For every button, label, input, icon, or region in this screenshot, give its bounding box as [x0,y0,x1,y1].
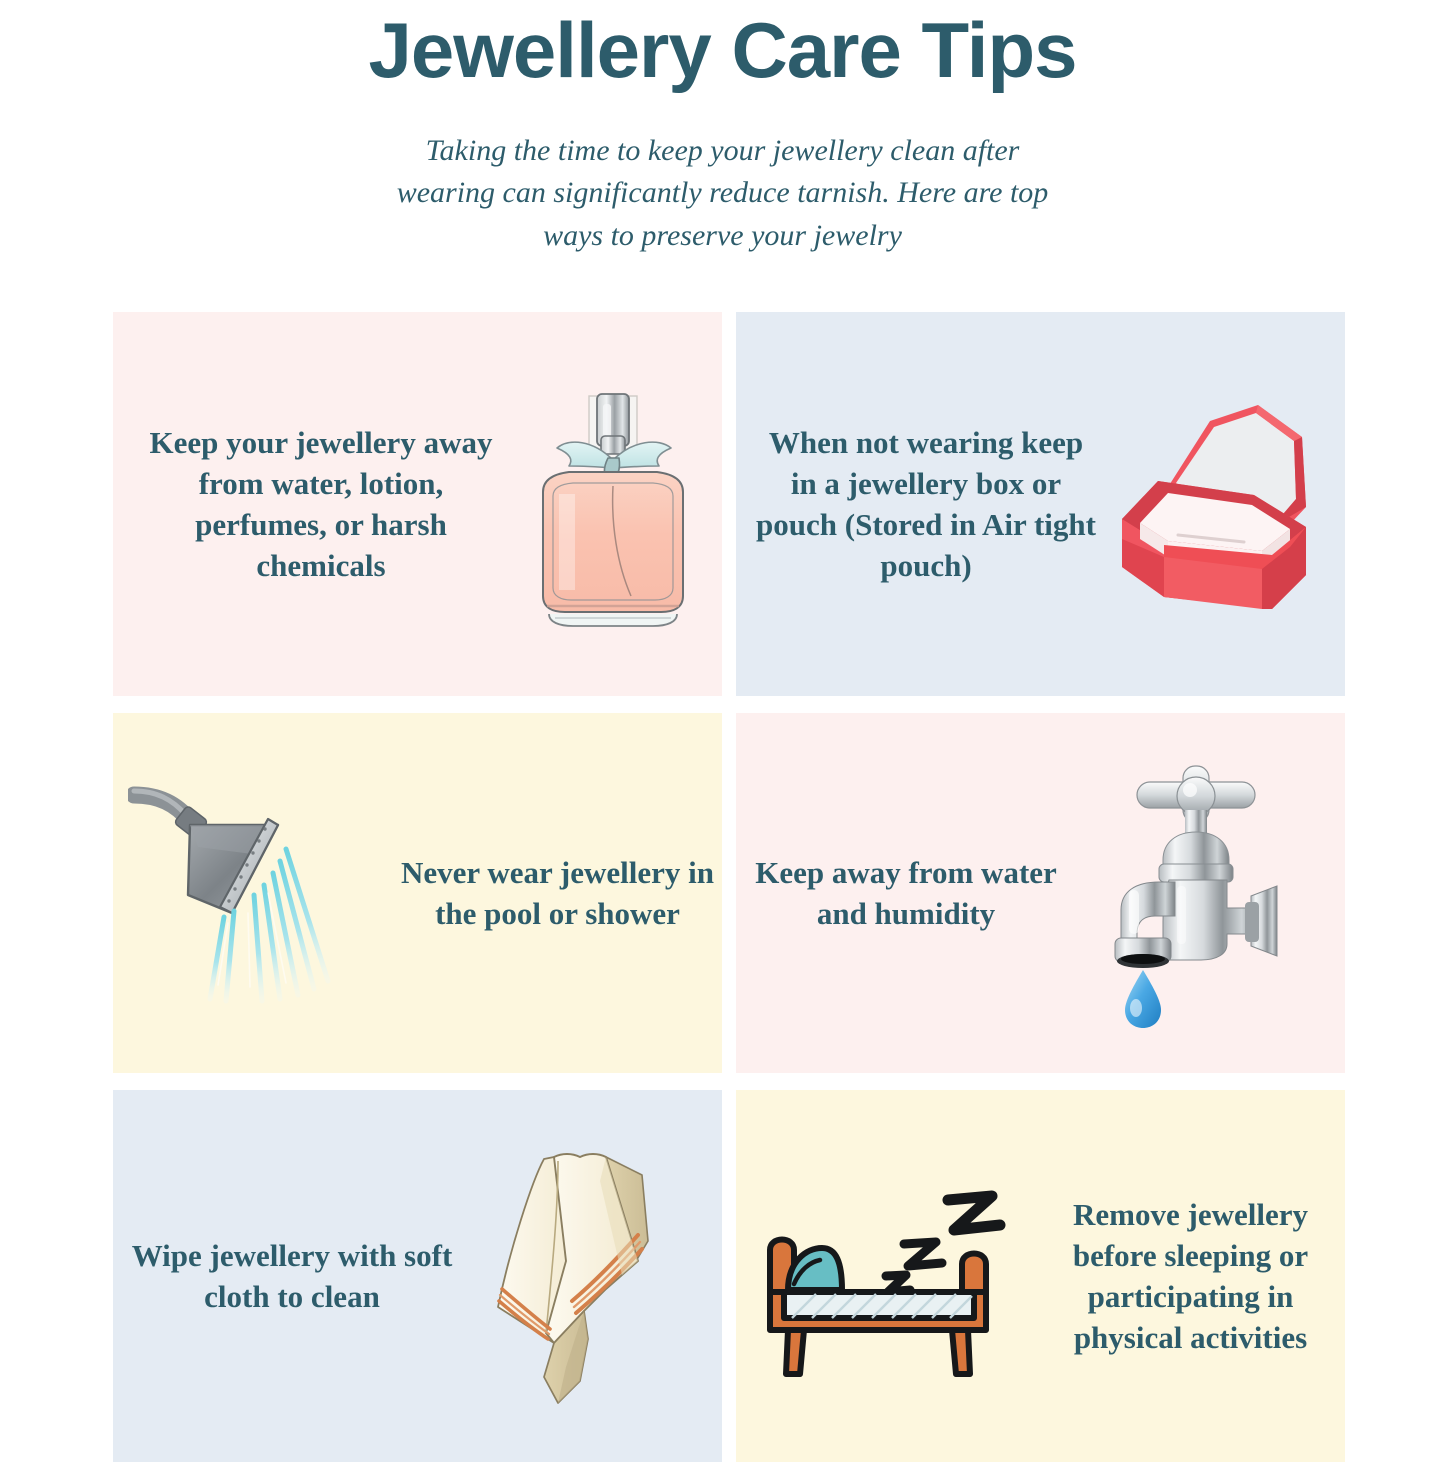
card-pool-shower-label: Never wear jewellery in the pool or show… [393,852,722,934]
card-pool-shower: Never wear jewellery in the pool or show… [113,713,722,1073]
card-wipe-cloth-label: Wipe jewellery with soft cloth to clean [113,1235,463,1317]
infographic-page: Jewellery Care Tips Taking the time to k… [0,0,1445,1445]
perfume-bottle-icon [503,374,722,634]
shower-head-icon [113,773,393,1013]
card-chemicals: Keep your jewellery away from water, lot… [113,312,722,696]
card-storage: When not wearing keep in a jewellery box… [736,312,1345,696]
header: Jewellery Care Tips Taking the time to k… [0,0,1445,258]
card-humidity-label: Keep away from water and humidity [736,852,1066,934]
card-wipe-cloth: Wipe jewellery with soft cloth to clean [113,1090,722,1462]
tips-grid: Keep your jewellery away from water, lot… [113,312,1335,1462]
card-storage-label: When not wearing keep in a jewellery box… [736,422,1096,587]
jewellery-box-icon [1096,379,1345,629]
faucet-icon [1066,758,1345,1028]
page-title: Jewellery Care Tips [0,8,1445,94]
polishing-cloth-icon [463,1141,722,1411]
bed-sleep-icon [736,1166,1036,1386]
card-humidity: Keep away from water and humidity [736,713,1345,1073]
page-subtitle: Taking the time to keep your jewellery c… [393,130,1053,258]
card-chemicals-label: Keep your jewellery away from water, lot… [113,422,503,587]
card-sleep-activity-label: Remove jewellery before sleeping or part… [1036,1194,1345,1359]
card-sleep-activity: Remove jewellery before sleeping or part… [736,1090,1345,1462]
